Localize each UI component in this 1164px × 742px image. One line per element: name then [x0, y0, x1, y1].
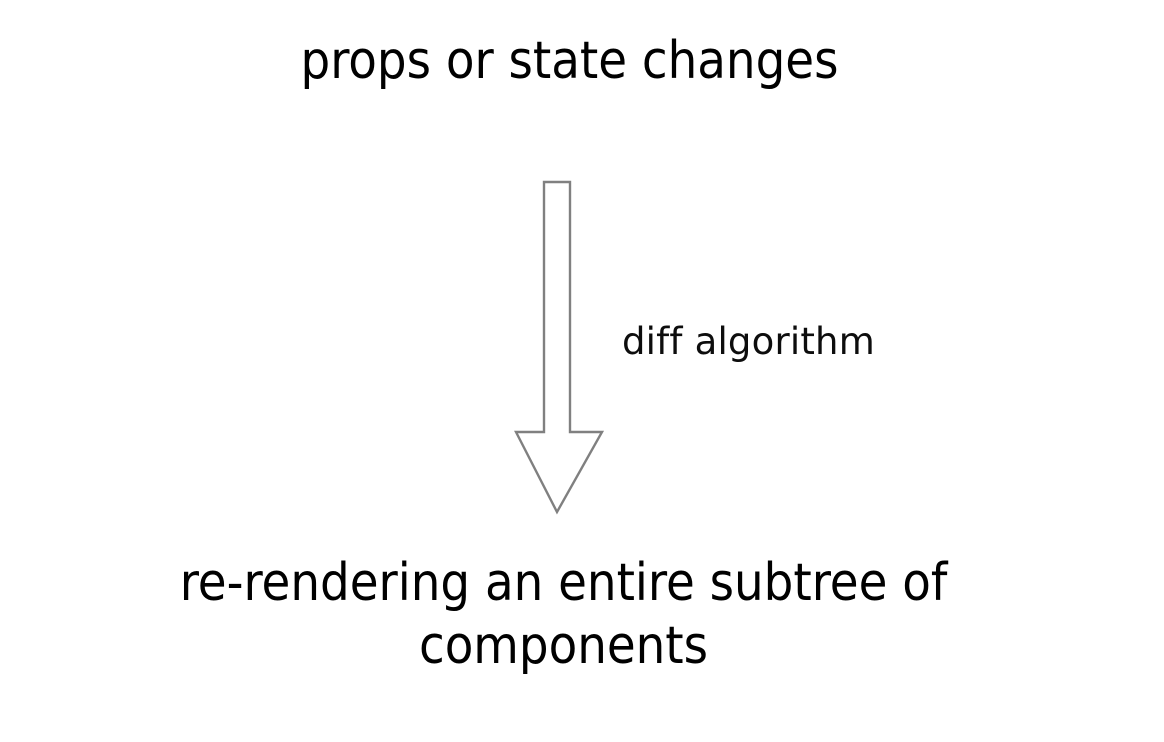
arrow-label: diff algorithm	[622, 320, 875, 364]
down-block-arrow-icon	[500, 170, 620, 526]
bottom-label: re-rendering an entire subtree of compon…	[0, 552, 1127, 678]
top-label: props or state changes	[0, 30, 1139, 92]
flow-arrow	[500, 170, 620, 526]
diagram-canvas: props or state changes diff algorithm re…	[0, 0, 1164, 742]
bottom-label-line-2: components	[0, 615, 1127, 678]
bottom-label-line-1: re-rendering an entire subtree of	[0, 552, 1127, 615]
